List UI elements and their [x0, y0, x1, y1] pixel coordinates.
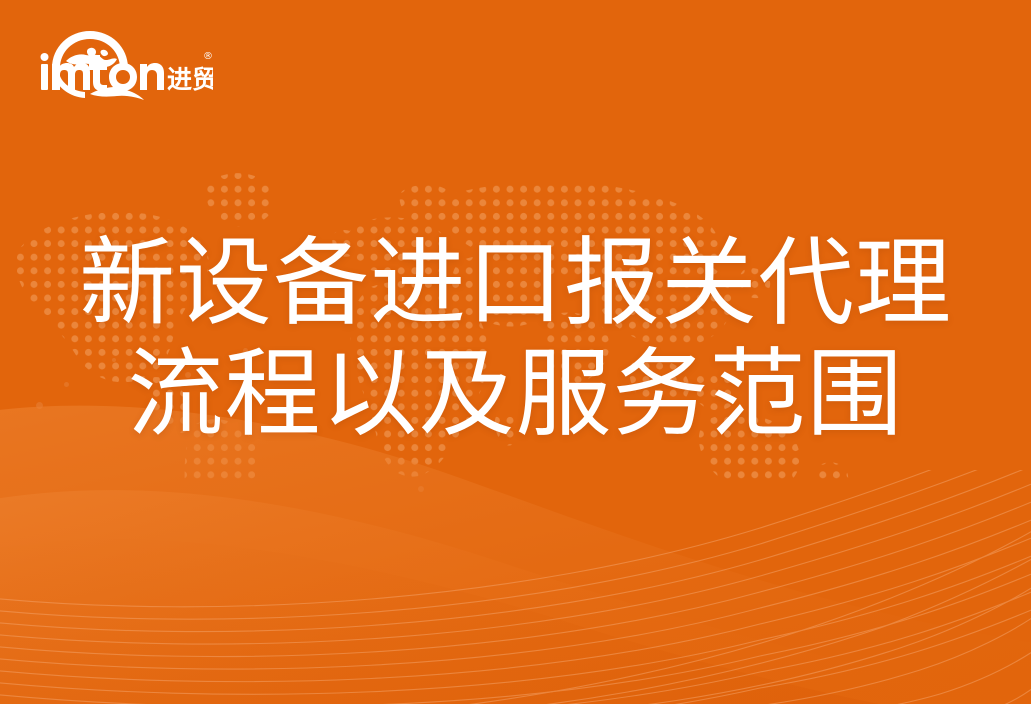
imton-logo[interactable]: 进贸通 ® — [38, 24, 213, 104]
radiating-hairlines — [0, 470, 1031, 704]
page-title: 新设备进口报关代理 流程以及服务范围 — [0, 228, 1031, 451]
trademark-symbol: ® — [203, 51, 213, 62]
page-title-line-1: 新设备进口报关代理 — [0, 228, 1031, 339]
logo-wordmark-chinese: 进贸通 — [167, 65, 213, 94]
page-title-line-2: 流程以及服务范围 — [0, 339, 1031, 450]
poster-canvas: 进贸通 ® 新设备进口报关代理 流程以及服务范围 — [0, 0, 1031, 704]
